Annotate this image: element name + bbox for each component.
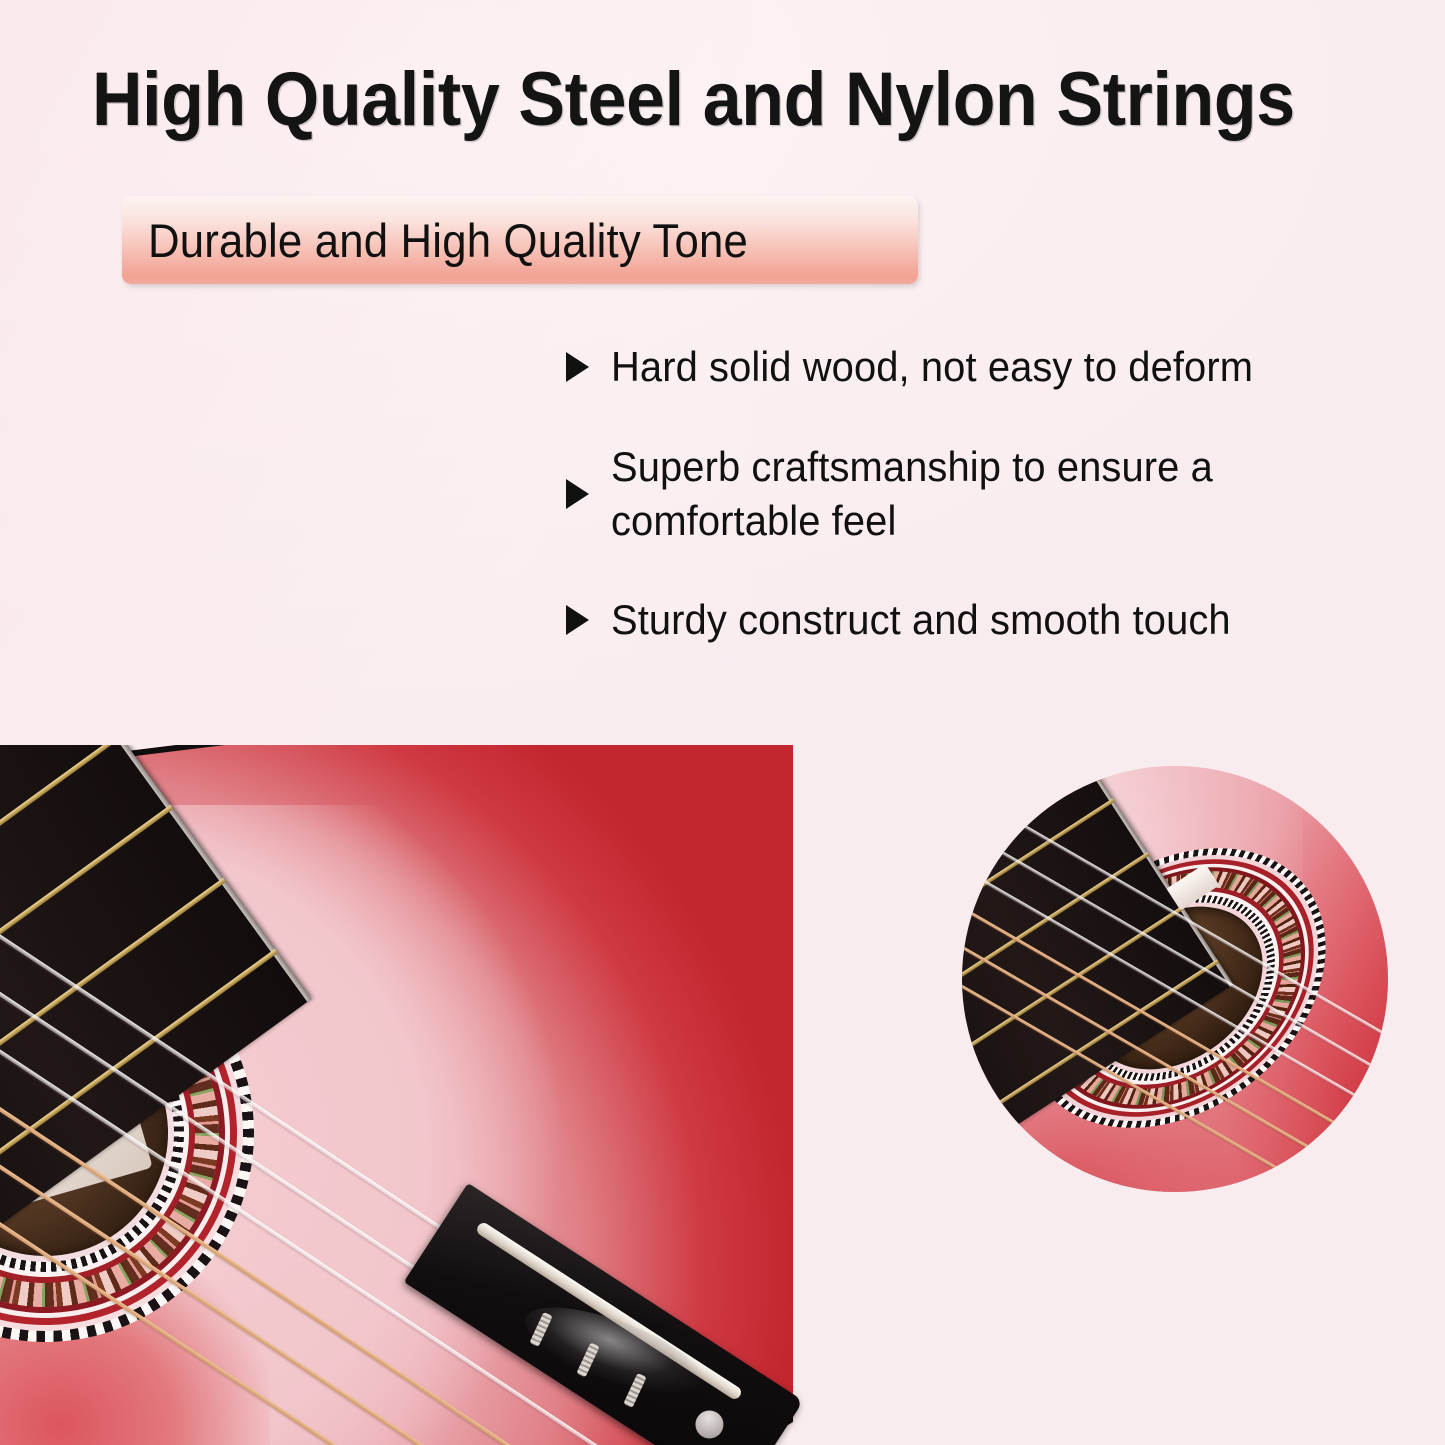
bridge-dot — [690, 1405, 729, 1444]
product-feature-graphic: High Quality Steel and Nylon Strings Dur… — [0, 0, 1445, 1445]
subtitle-badge: Durable and High Quality Tone — [122, 196, 918, 284]
fret — [0, 805, 173, 1044]
subtitle-badge-label: Durable and High Quality Tone — [122, 213, 748, 268]
triangle-right-icon — [566, 479, 589, 509]
list-item: Superb craftsmanship to ensure a comfort… — [566, 440, 1418, 548]
triangle-right-icon — [566, 352, 589, 382]
list-item: Hard solid wood, not easy to deform — [566, 340, 1418, 394]
list-item-label: Sturdy construct and smooth touch — [611, 593, 1231, 647]
list-item-label: Hard solid wood, not easy to deform — [611, 340, 1253, 394]
list-item-label: Superb craftsmanship to ensure a comfort… — [611, 440, 1333, 548]
triangle-right-icon — [566, 605, 589, 635]
list-item: Sturdy construct and smooth touch — [566, 593, 1418, 647]
feature-list: Hard solid wood, not easy to deform Supe… — [566, 340, 1418, 693]
page-title: High Quality Steel and Nylon Strings — [92, 62, 1306, 138]
guitar-photo-circle-inset — [962, 766, 1388, 1192]
fret — [0, 878, 226, 1117]
fret — [0, 745, 71, 903]
